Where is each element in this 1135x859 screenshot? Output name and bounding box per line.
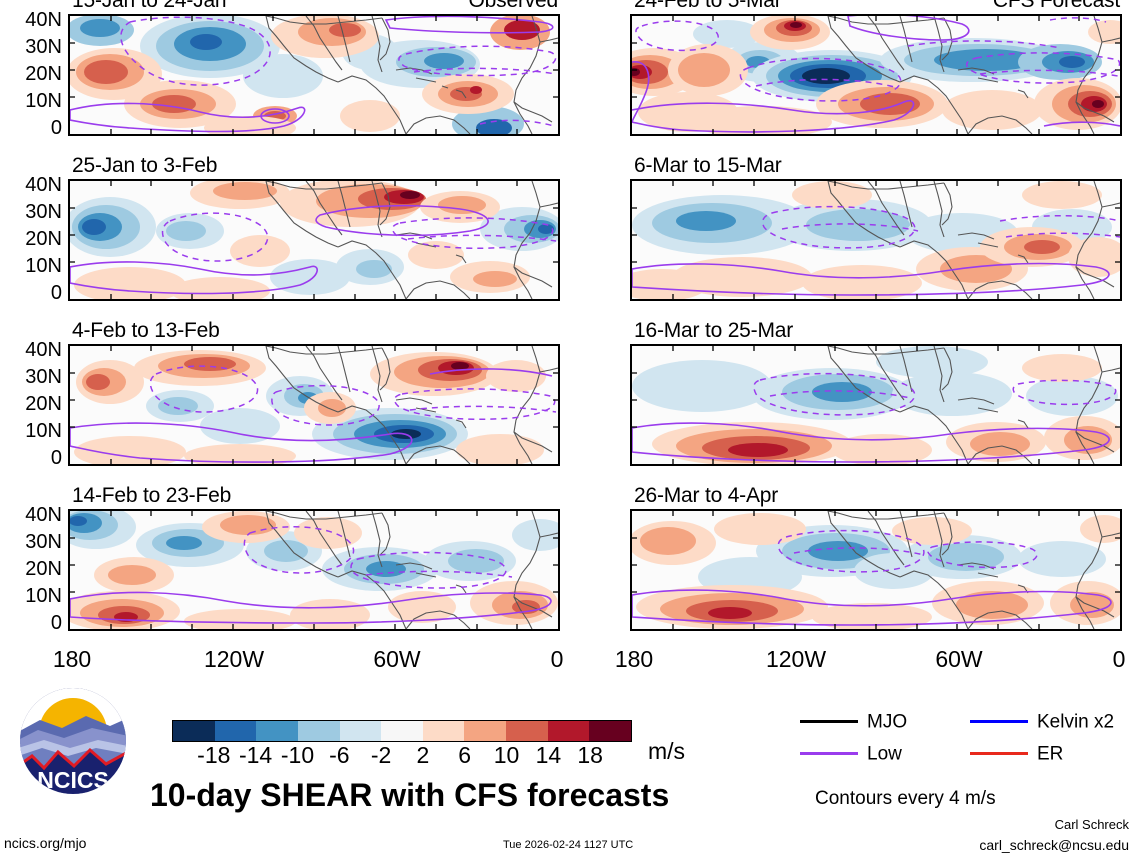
colorbar <box>172 720 632 742</box>
y-tick: 30N <box>25 202 62 222</box>
legend-label: Kelvin x2 <box>1037 711 1114 732</box>
y-tick: 20N <box>25 394 62 414</box>
colorbar-swatch <box>589 721 631 741</box>
panel-forecast-3: 16-Mar to 25-Mar <box>630 344 1122 466</box>
map-canvas[interactable] <box>630 509 1122 631</box>
y-tick: 0 <box>51 118 62 138</box>
x-axis-labels-left: 180 120W 60W 0 <box>68 648 560 672</box>
map-canvas[interactable] <box>630 14 1122 136</box>
panel-grid: 40N 30N 20N 10N 0 40N 30N 20N 10N 0 40N … <box>0 0 1135 640</box>
colorbar-tick: -18 <box>197 744 230 767</box>
colorbar-tick: -10 <box>281 744 314 767</box>
x-tick: 120W <box>204 648 264 671</box>
map-canvas[interactable] <box>68 509 560 631</box>
y-tick: 0 <box>51 283 62 303</box>
x-tick: 0 <box>1113 648 1126 671</box>
panel-forecast-1: 24-Feb to 5-Mar CFS Forecast <box>630 14 1122 136</box>
colorbar-swatch <box>173 721 215 741</box>
y-tick: 40N <box>25 505 62 525</box>
panel-forecast-4: 26-Mar to 4-Apr <box>630 509 1122 631</box>
map-canvas[interactable] <box>630 179 1122 301</box>
y-axis-labels-row2: 40N 30N 20N 10N 0 <box>0 183 62 301</box>
legend-item-low: Low <box>800 744 902 763</box>
panel-title: 25-Jan to 3-Feb <box>72 155 217 176</box>
colorbar-tick-labels: -18 -14 -10 -6 -2 2 6 10 14 18 <box>172 744 632 770</box>
map-canvas[interactable] <box>68 14 560 136</box>
colorbar-tick: 6 <box>458 744 471 767</box>
footer-email[interactable]: carl_schreck@ncsu.edu <box>979 838 1129 852</box>
colorbar-swatch <box>423 721 465 741</box>
legend-label: ER <box>1037 743 1063 764</box>
footer-site-link[interactable]: ncics.org/mjo <box>4 836 86 850</box>
panel-title: 15-Jan to 24-Jan <box>72 0 226 11</box>
y-tick: 20N <box>25 229 62 249</box>
y-tick: 0 <box>51 448 62 468</box>
y-axis-labels-row4: 40N 30N 20N 10N 0 <box>0 513 62 631</box>
x-axis-labels-right: 180 120W 60W 0 <box>630 648 1122 672</box>
legend-line-mjo <box>800 720 858 723</box>
map-canvas[interactable] <box>68 179 560 301</box>
panel-observed-4: 14-Feb to 23-Feb <box>68 509 560 631</box>
footer-author: Carl Schreck <box>1055 818 1129 831</box>
y-axis-labels-row1: 40N 30N 20N 10N 0 <box>0 18 62 136</box>
colorbar-swatch <box>256 721 298 741</box>
y-tick: 10N <box>25 421 62 441</box>
legend-label: MJO <box>867 711 907 732</box>
panel-title: 26-Mar to 4-Apr <box>634 485 778 506</box>
legend-line-low <box>800 752 858 755</box>
legend-line-kelvin <box>970 720 1028 723</box>
y-tick: 10N <box>25 586 62 606</box>
legend-label: Low <box>867 743 902 764</box>
y-tick: 30N <box>25 532 62 552</box>
panel-title: 14-Feb to 23-Feb <box>72 485 231 506</box>
figure-title: 10-day SHEAR with CFS forecasts <box>150 778 669 812</box>
y-tick: 10N <box>25 256 62 276</box>
y-tick: 20N <box>25 64 62 84</box>
colorbar-swatch <box>215 721 257 741</box>
y-tick: 40N <box>25 10 62 30</box>
footer-timestamp: Tue 2026-02-24 1127 UTC <box>503 840 633 851</box>
legend-line-er <box>970 752 1028 755</box>
colorbar-unit-label: m/s <box>648 740 685 763</box>
colorbar-tick: -2 <box>371 744 391 767</box>
y-tick: 0 <box>51 613 62 633</box>
contour-interval-note: Contours every 4 m/s <box>815 789 996 808</box>
x-tick: 60W <box>373 648 420 671</box>
colorbar-swatch <box>464 721 506 741</box>
colorbar-tick: 18 <box>577 744 603 767</box>
colorbar-swatch <box>381 721 423 741</box>
panel-observed-3: 4-Feb to 13-Feb <box>68 344 560 466</box>
legend-item-er: ER <box>970 744 1063 763</box>
colorbar-tick: 2 <box>416 744 429 767</box>
x-tick: 60W <box>935 648 982 671</box>
colorbar-swatch <box>548 721 590 741</box>
y-tick: 10N <box>25 91 62 111</box>
column-header-forecast: CFS Forecast <box>993 0 1120 11</box>
colorbar-swatch <box>298 721 340 741</box>
logo-text: NCICS <box>37 767 109 793</box>
panel-title: 6-Mar to 15-Mar <box>634 155 782 176</box>
legend-item-mjo: MJO <box>800 712 907 731</box>
y-tick: 30N <box>25 37 62 57</box>
y-tick: 40N <box>25 175 62 195</box>
colorbar-tick: -14 <box>239 744 272 767</box>
panel-observed-2: 25-Jan to 3-Feb <box>68 179 560 301</box>
colorbar-swatch <box>340 721 382 741</box>
panel-forecast-2: 6-Mar to 15-Mar <box>630 179 1122 301</box>
y-axis-labels-row3: 40N 30N 20N 10N 0 <box>0 348 62 466</box>
x-tick: 180 <box>53 648 91 671</box>
panel-observed-1: 15-Jan to 24-Jan Observed <box>68 14 560 136</box>
y-tick: 20N <box>25 559 62 579</box>
x-tick: 120W <box>766 648 826 671</box>
x-tick: 0 <box>551 648 564 671</box>
legend-item-kelvin: Kelvin x2 <box>970 712 1114 731</box>
colorbar-tick: 10 <box>494 744 520 767</box>
colorbar-tick: 14 <box>536 744 562 767</box>
y-tick: 40N <box>25 340 62 360</box>
panel-title: 16-Mar to 25-Mar <box>634 320 793 341</box>
colorbar-tick: -6 <box>329 744 349 767</box>
map-canvas[interactable] <box>630 344 1122 466</box>
column-header-observed: Observed <box>469 0 558 11</box>
map-canvas[interactable] <box>68 344 560 466</box>
colorbar-swatch <box>506 721 548 741</box>
contour-legend: MJO Kelvin x2 Low ER <box>800 706 1130 768</box>
y-tick: 30N <box>25 367 62 387</box>
panel-title: 4-Feb to 13-Feb <box>72 320 220 341</box>
x-tick: 180 <box>615 648 653 671</box>
panel-title: 24-Feb to 5-Mar <box>634 0 782 11</box>
ncics-logo: NCICS <box>18 686 128 796</box>
